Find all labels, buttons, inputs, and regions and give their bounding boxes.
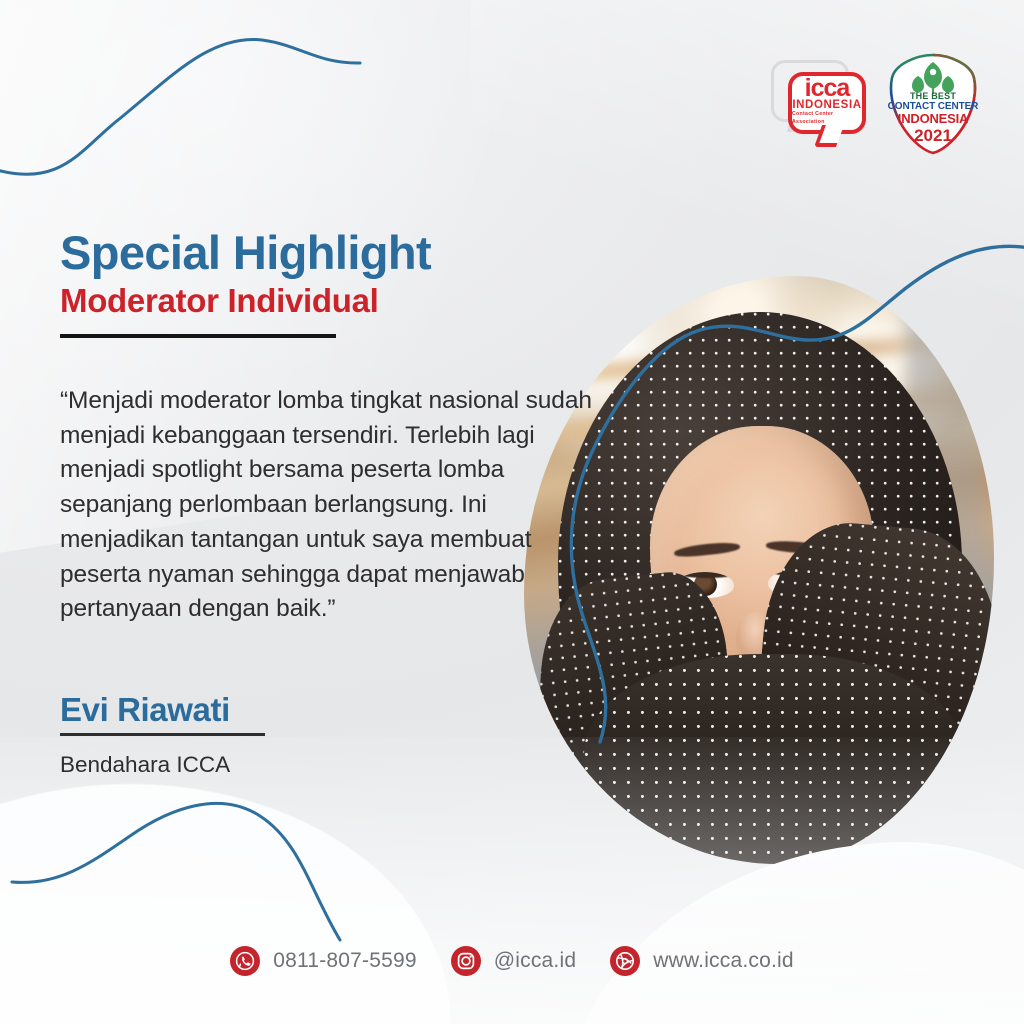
name-divider	[60, 733, 265, 736]
person-name: Evi Riawati	[60, 691, 620, 729]
contact-whatsapp[interactable]: 0811-807-5599	[230, 946, 417, 976]
contact-instagram-text: @icca.id	[494, 949, 576, 973]
instagram-icon	[451, 946, 481, 976]
award-line-1: THE BEST	[910, 92, 956, 101]
globe-icon	[610, 946, 640, 976]
contact-website[interactable]: www.icca.co.id	[610, 946, 794, 976]
portrait-hijab-chest	[584, 654, 964, 864]
award-line-3: INDONESIA	[898, 112, 968, 126]
speech-bubble-icon: icca INDONESIA Contact Center Associatio…	[788, 72, 866, 134]
content-column: Special Highlight Moderator Individual “…	[60, 228, 620, 778]
person-role: Bendahara ICCA	[60, 752, 620, 778]
contact-instagram[interactable]: @icca.id	[451, 946, 576, 976]
contact-whatsapp-text: 0811-807-5599	[273, 949, 417, 973]
logo-group: icca INDONESIA Contact Center Associatio…	[771, 52, 979, 156]
award-year: 2021	[914, 127, 952, 144]
contact-website-text: www.icca.co.id	[653, 949, 794, 973]
title-divider	[60, 334, 336, 338]
person-block: Evi Riawati Bendahara ICCA	[60, 691, 620, 778]
contact-footer: 0811-807-5599 @icca.id	[0, 946, 1024, 976]
icca-wordmark: icca	[805, 78, 850, 100]
page-subtitle: Moderator Individual	[60, 282, 620, 320]
whatsapp-icon	[230, 946, 260, 976]
icca-logo: icca INDONESIA Contact Center Associatio…	[771, 52, 869, 156]
curve-top-left	[0, 39, 360, 174]
award-badge: THE BEST CONTACT CENTER INDONESIA 2021	[887, 52, 979, 156]
icca-country: INDONESIA	[792, 100, 861, 112]
poster-canvas: icca INDONESIA Contact Center Associatio…	[0, 0, 1024, 1024]
quote-text: “Menjadi moderator lomba tingkat nasiona…	[60, 384, 606, 627]
icca-tagline: Contact Center Association	[792, 111, 862, 126]
page-title: Special Highlight	[60, 228, 620, 278]
background-lobe-bottom-left	[0, 784, 450, 1024]
